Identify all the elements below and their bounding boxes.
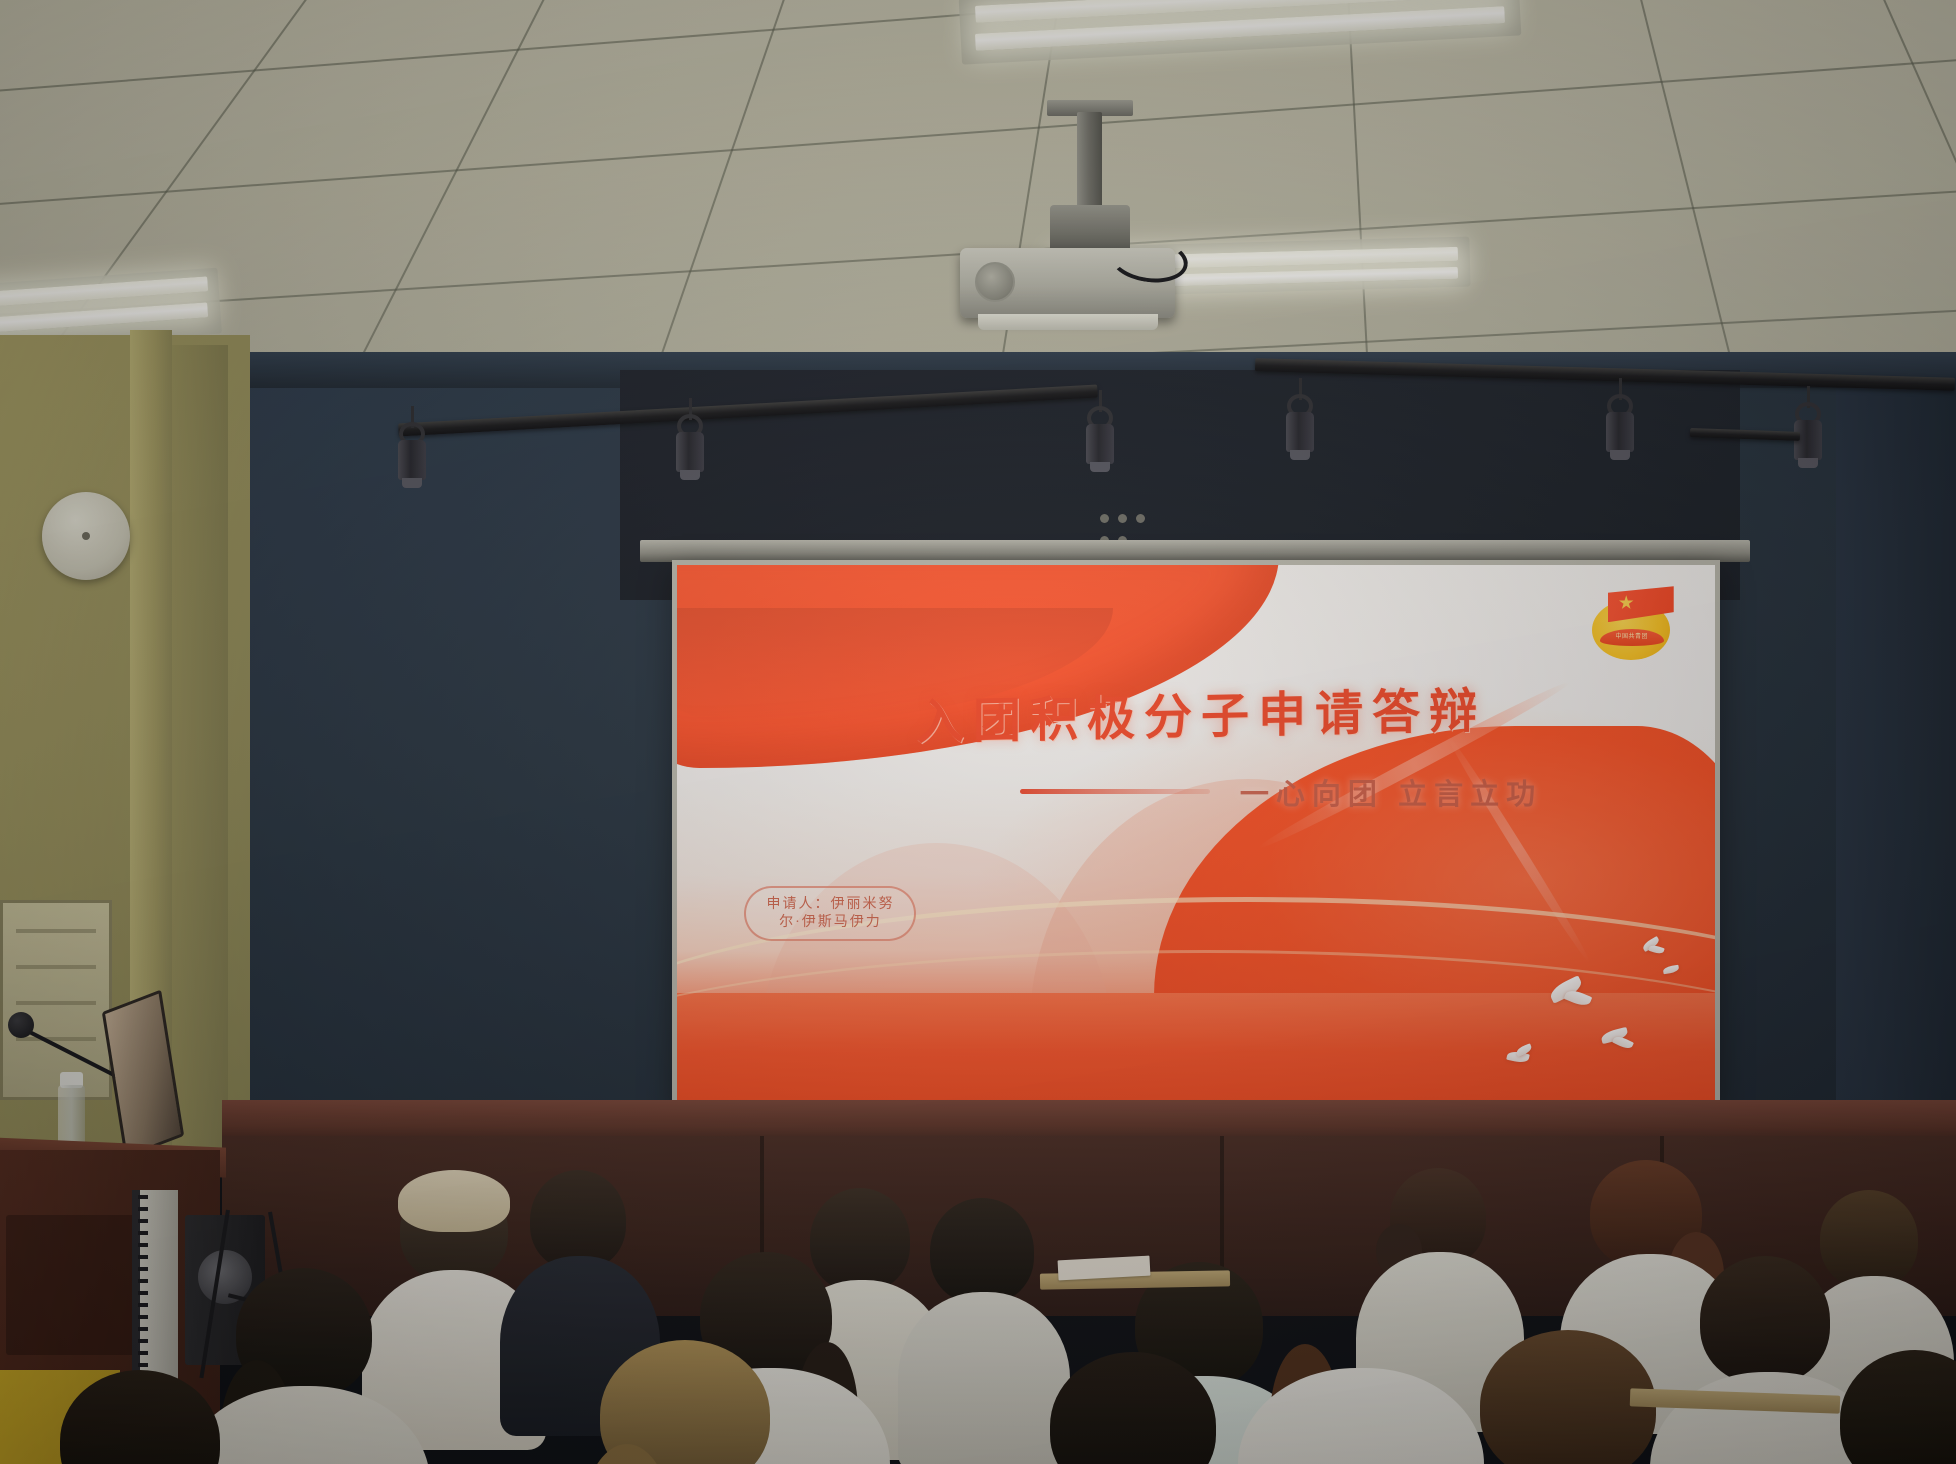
clock-center [82,532,90,540]
rack-vent-holes [138,1195,148,1385]
lecture-hall-photo: 中国共青团 入团积极分子申请答辩 一心向团 立言立功 申请人：伊丽米努 尔·伊斯… [0,0,1956,1464]
subtitle-rule [1020,789,1210,794]
projector-foot [978,314,1158,330]
screen-valance [640,540,1750,562]
slide-subtitle-row: 一心向团 立言立功 [677,771,1715,813]
communist-youth-league-emblem: 中国共青团 [1588,584,1680,664]
projector-mount-pole [1077,112,1102,210]
presentation-slide: 中国共青团 入团积极分子申请答辩 一心向团 立言立功 申请人：伊丽米努 尔·伊斯… [677,565,1715,1100]
projection-screen: 中国共青团 入团积极分子申请答辩 一心向团 立言立功 申请人：伊丽米努 尔·伊斯… [672,560,1720,1105]
slide-subtitle: 一心向团 立言立功 [1240,771,1542,813]
stage-edge [222,1100,1956,1138]
projector-lens [975,262,1015,302]
microphone-head [8,1012,34,1038]
speaker-cone [198,1250,252,1304]
wall-notice-board [0,900,112,1100]
side-wall-panel [168,345,228,1175]
wall-clock [42,492,130,580]
applicant-line-2: 尔·伊斯马伊力 [766,914,894,932]
emblem-banner: 中国共青团 [1600,629,1664,646]
suspended-ceiling [0,0,1956,410]
applicant-line-1: 申请人：伊丽米努 [766,896,894,914]
applicant-badge: 申请人：伊丽米努 尔·伊斯马伊力 [744,886,916,941]
